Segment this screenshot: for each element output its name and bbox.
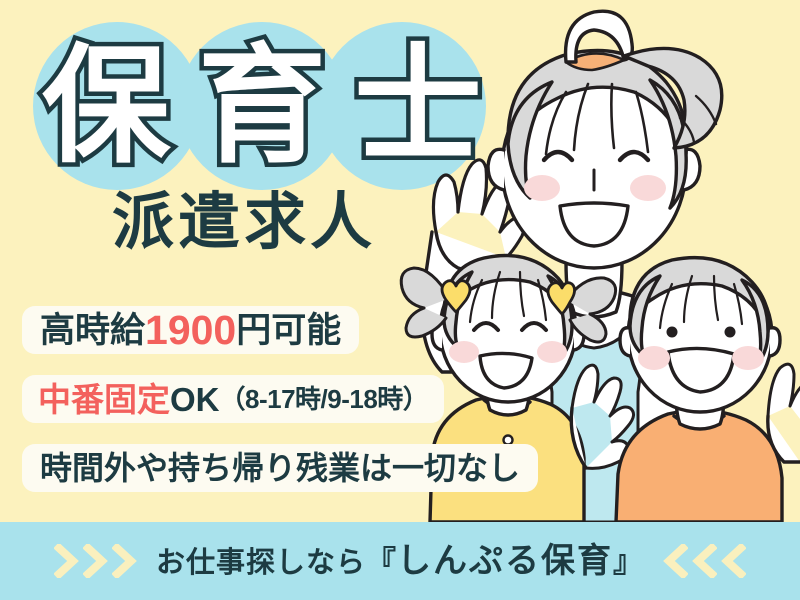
chevrons-left bbox=[54, 544, 138, 578]
feature-1-part-3: 円可能 bbox=[236, 313, 341, 348]
page-subtitle: 派遣求人 bbox=[112, 192, 376, 254]
chevron-right-icon bbox=[112, 544, 138, 578]
banner-text: お仕事探しなら 『 しんぷる保育 』 bbox=[156, 544, 644, 578]
chevron-right-icon bbox=[83, 544, 109, 578]
chevron-left-icon bbox=[662, 544, 688, 578]
banner-bracket-close: 』 bbox=[613, 548, 644, 578]
feature-2-part-1: 中番固定 bbox=[38, 383, 170, 416]
chevron-left-icon bbox=[720, 544, 746, 578]
chevron-right-icon bbox=[54, 544, 80, 578]
bottom-banner: お仕事探しなら 『 しんぷる保育 』 bbox=[0, 522, 800, 600]
chevrons-right bbox=[662, 544, 746, 578]
feature-1-amount: 1900 bbox=[145, 310, 236, 351]
feature-2-hours: （8-17時/9-18時） bbox=[220, 386, 429, 412]
feature-2-part-2: OK bbox=[170, 383, 220, 416]
feature-fixed-shift: 中番固定 OK （8-17時/9-18時） bbox=[22, 375, 444, 423]
banner-brand-name: しんぷる保育 bbox=[397, 544, 613, 578]
banner-lead-text: お仕事探しなら bbox=[156, 549, 366, 578]
feature-hourly-wage: 高時給 1900 円可能 bbox=[22, 306, 359, 354]
feature-3-text: 時間外や持ち帰り残業は一切なし bbox=[40, 452, 520, 484]
banner-bracket-open: 『 bbox=[366, 548, 397, 578]
feature-no-overtime: 時間外や持ち帰り残業は一切なし bbox=[22, 444, 538, 492]
poster-root: 保 育 士 派遣求人 bbox=[0, 0, 800, 600]
title-char-1: 保 bbox=[42, 43, 170, 171]
chevron-left-icon bbox=[691, 544, 717, 578]
feature-1-part-1: 高時給 bbox=[40, 313, 145, 348]
title-char-2: 育 bbox=[198, 43, 326, 171]
